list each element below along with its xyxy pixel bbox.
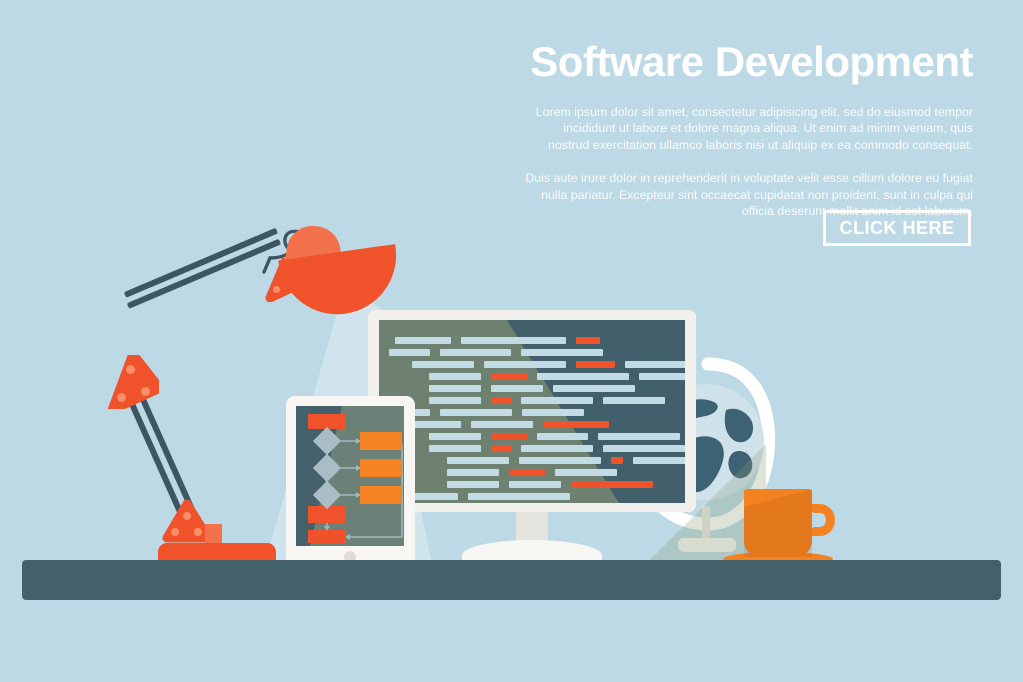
code-line-segment: [522, 409, 584, 416]
code-line-segment: [491, 433, 527, 440]
code-line-segment: [447, 481, 499, 488]
code-line-segment: [491, 385, 543, 392]
code-line-segment: [468, 493, 570, 500]
banner-canvas: Software Development Lorem ipsum dolor s…: [0, 0, 1023, 682]
lamp-joint-dot: [183, 512, 191, 520]
lamp-joint-dot: [141, 387, 150, 396]
code-line-segment: [471, 421, 533, 428]
code-line-segment: [519, 457, 601, 464]
code-line-segment: [395, 337, 451, 344]
code-line-segment: [429, 397, 481, 404]
code-line-segment: [461, 337, 566, 344]
code-line-segment: [440, 349, 511, 356]
lamp-joint-dot: [273, 286, 280, 293]
tablet-screen[interactable]: [296, 406, 404, 546]
code-line-segment: [412, 361, 474, 368]
code-line-segment: [603, 397, 665, 404]
flowchart-branch-1: [360, 432, 402, 450]
code-line-segment: [537, 373, 629, 380]
code-line-segment: [484, 361, 566, 368]
code-line-segment: [389, 349, 430, 356]
page-title: Software Development: [520, 40, 973, 84]
code-line-segment: [429, 445, 481, 452]
header-text-block: Software Development Lorem ipsum dolor s…: [520, 40, 973, 219]
code-line-segment: [537, 433, 588, 440]
click-here-button[interactable]: CLICK HERE: [823, 210, 971, 246]
monitor-screen[interactable]: [379, 320, 685, 503]
code-line-segment: [509, 469, 545, 476]
lamp-joint-dot: [171, 528, 179, 536]
monitor-foot: [462, 540, 602, 562]
lamp-joint-dot: [126, 365, 135, 374]
code-line-segment: [521, 445, 593, 452]
code-line-segment: [598, 433, 680, 440]
code-line-segment: [571, 481, 653, 488]
lamp-upper-arm-bar-1: [124, 228, 278, 298]
cup-body: [744, 489, 812, 557]
lamp-upper-arm-bar-2: [127, 239, 281, 309]
code-line-segment: [639, 373, 685, 380]
code-line-segment: [576, 361, 615, 368]
code-line-segment: [429, 433, 481, 440]
code-line-segment: [447, 469, 499, 476]
desk-surface: [22, 560, 1001, 600]
code-line-segment: [412, 493, 458, 500]
code-line-segment: [633, 457, 685, 464]
code-line-segment: [555, 469, 617, 476]
code-line-segment: [440, 409, 512, 416]
code-line-segment: [429, 373, 481, 380]
code-line-segment: [576, 337, 600, 344]
code-line-segment: [491, 397, 511, 404]
code-line-segment: [491, 445, 511, 452]
cup-shadow: [744, 489, 812, 557]
code-line-segment: [509, 481, 561, 488]
code-line-segment: [611, 457, 623, 464]
click-here-label: CLICK HERE: [839, 218, 954, 239]
code-line-segment: [491, 373, 527, 380]
code-line-segment: [603, 445, 685, 452]
code-line-segment: [429, 385, 481, 392]
code-line-segment: [521, 349, 603, 356]
code-line-segment: [543, 421, 609, 428]
lamp-joint-dot: [194, 528, 202, 536]
flowchart-branch-2: [360, 459, 402, 477]
flowchart-branch-3: [360, 486, 402, 504]
body-paragraph-1: Lorem ipsum dolor sit amet, consectetur …: [520, 104, 973, 153]
code-line-segment: [553, 385, 635, 392]
lamp-joint-dot: [117, 393, 126, 402]
code-line-segment: [447, 457, 509, 464]
lamp-elbow-joint: [103, 355, 159, 409]
flowchart-node-end: [308, 530, 346, 543]
code-line-segment: [625, 361, 685, 368]
code-line-segment: [521, 397, 593, 404]
